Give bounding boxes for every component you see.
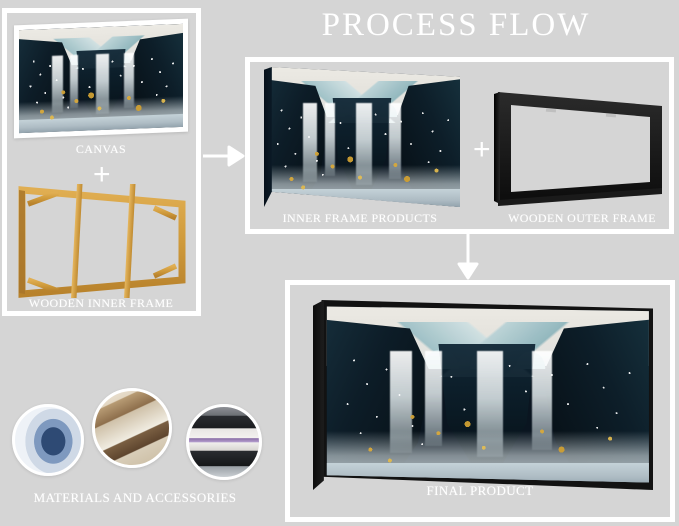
caption-wooden-outer-frame: WOODEN OUTER FRAME <box>492 211 672 226</box>
canvas-depth-edge <box>264 67 272 207</box>
caption-canvas: CANVAS <box>14 142 188 157</box>
black-outer-frame-icon <box>494 88 666 208</box>
artwork-canvas-render <box>19 24 183 133</box>
caption-final-product: FINAL PRODUCT <box>300 483 660 499</box>
wooden-stretcher-frame-icon <box>14 184 190 298</box>
page-title: PROCESS FLOW <box>236 4 676 46</box>
caption-inner-frame-products: INNER FRAME PRODUCTS <box>248 211 472 226</box>
framed-artwork-icon <box>313 300 653 490</box>
wood-moulding-photo <box>92 388 172 468</box>
wooden-frame-svg <box>14 184 190 298</box>
canvas-roll-photo <box>12 404 84 476</box>
arrow-down-icon <box>454 234 482 285</box>
artwork-final-render <box>325 304 649 486</box>
plus-operator-components: + <box>473 135 491 165</box>
process-flow-infographic: PROCESS FLOW CANVAS + <box>0 0 679 526</box>
caption-wooden-inner-frame: WOODEN INNER FRAME <box>10 296 192 311</box>
canvas-artwork-icon <box>14 19 188 139</box>
stretched-canvas-icon <box>264 67 460 207</box>
artwork-inner-render <box>264 67 460 207</box>
outer-frame-svg <box>494 88 666 208</box>
caption-materials-accessories: MATERIALS AND ACCESSORIES <box>8 490 262 506</box>
arrow-right-icon <box>203 143 245 174</box>
large-format-printer-photo <box>186 404 262 480</box>
frame-depth-edge <box>313 300 324 490</box>
